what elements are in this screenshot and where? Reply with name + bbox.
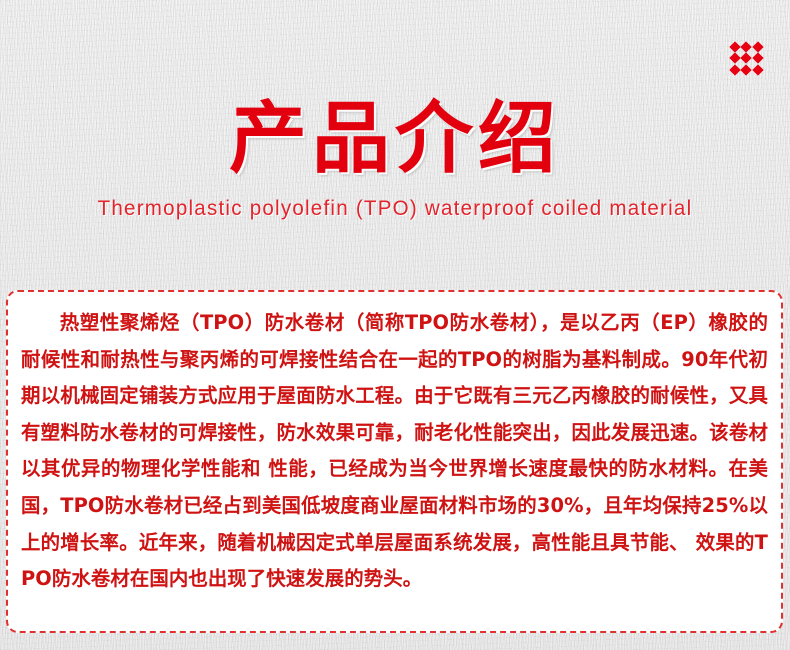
page-title: 产品介绍 — [0, 0, 790, 182]
product-description-text: 热塑性聚烯烃（TPO）防水卷材（简称TPO防水卷材），是以乙丙（EP）橡胶的耐候… — [8, 292, 781, 598]
diamond-dot-icon — [752, 53, 764, 65]
product-intro-page: 产品介绍 Thermoplastic polyolefin (TPO) wate… — [0, 0, 790, 650]
diamond-dot-icon — [741, 53, 753, 65]
description-panel: 热塑性聚烯烃（TPO）防水卷材（简称TPO防水卷材），是以乙丙（EP）橡胶的耐候… — [6, 290, 783, 633]
page-subtitle: Thermoplastic polyolefin (TPO) waterproo… — [8, 182, 782, 224]
diamond-dot-icon — [729, 41, 741, 53]
diamond-dot-icon — [741, 41, 753, 53]
diamond-dot-icon — [752, 64, 764, 76]
diamond-dot-grid-icon — [729, 41, 764, 76]
diamond-dot-icon — [752, 41, 764, 53]
heading-block: 产品介绍 Thermoplastic polyolefin (TPO) wate… — [0, 0, 790, 224]
diamond-dot-icon — [729, 64, 741, 76]
diamond-dot-icon — [741, 64, 753, 76]
diamond-dot-icon — [729, 53, 741, 65]
